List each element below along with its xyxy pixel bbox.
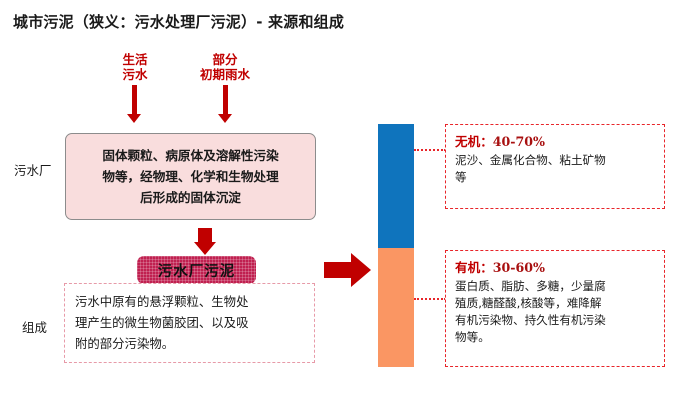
sludge-badge: 污水厂污泥 bbox=[137, 256, 256, 284]
callout-head-inorganic: 无机：40-70% bbox=[455, 131, 656, 150]
source-label-initial-rainwater: 部分 初期雨水 bbox=[183, 52, 267, 82]
bar-segment-inorganic bbox=[378, 124, 414, 248]
source-label-line2: 污水 bbox=[105, 67, 165, 82]
source-label-line2: 初期雨水 bbox=[183, 67, 267, 82]
callout-body-line-1: 蛋白质、脂肪、多糖，少量腐 bbox=[455, 278, 656, 295]
callout-body-line-2: 等 bbox=[455, 169, 656, 186]
callout-head-organic: 有机：30-60% bbox=[455, 257, 656, 276]
slide-canvas: 城市污泥（狭义：污水处理厂污泥）- 来源和组成 生活 污水 部分 初期雨水 污水… bbox=[0, 0, 678, 400]
source-arrow-head-domestic bbox=[127, 114, 141, 123]
process-line-1: 固体颗粒、病原体及溶解性污染 bbox=[102, 145, 278, 166]
composition-stacked-bar bbox=[378, 124, 414, 367]
source-arrow-stem-domestic bbox=[132, 85, 137, 114]
callout-body-line-1: 泥沙、金属化合物、粘土矿物 bbox=[455, 152, 656, 169]
source-label-domestic-sewage: 生活 污水 bbox=[105, 52, 165, 82]
source-arrow-stem-rainwater bbox=[223, 85, 228, 114]
callout-value-inorganic: 40-70% bbox=[493, 134, 545, 149]
row-label-plant: 污水厂 bbox=[14, 160, 52, 179]
connector-inorganic bbox=[414, 149, 446, 151]
callout-body-line-4: 物等。 bbox=[455, 329, 656, 346]
process-line-2: 物等，经物理、化学和生物处理 bbox=[102, 166, 278, 187]
down-arrow-stem bbox=[198, 228, 212, 242]
process-line-3: 后形成的固体沉淀 bbox=[140, 187, 241, 208]
source-label-line1: 部分 bbox=[183, 52, 267, 67]
bar-segment-organic bbox=[378, 248, 414, 367]
composition-description-box: 污水中原有的悬浮颗粒、生物处 理产生的微生物菌胶团、以及吸 附的部分污染物。 bbox=[64, 283, 315, 363]
callout-body-line-2: 殖质,糖醛酸,核酸等，难降解 bbox=[455, 295, 656, 312]
callout-body-organic: 蛋白质、脂肪、多糖，少量腐 殖质,糖醛酸,核酸等，难降解 有机污染物、持久性有机… bbox=[455, 278, 656, 346]
page-title: 城市污泥（狭义：污水处理厂污泥）- 来源和组成 bbox=[13, 11, 344, 32]
composition-line-2: 理产生的微生物菌胶团、以及吸 bbox=[75, 312, 305, 333]
callout-box-inorganic: 无机：40-70% 泥沙、金属化合物、粘土矿物 等 bbox=[445, 124, 665, 209]
right-arrow-icon bbox=[324, 252, 372, 292]
source-label-line1: 生活 bbox=[105, 52, 165, 67]
callout-box-organic: 有机：30-60% 蛋白质、脂肪、多糖，少量腐 殖质,糖醛酸,核酸等，难降解 有… bbox=[445, 250, 665, 367]
process-description-box: 固体颗粒、病原体及溶解性污染 物等，经物理、化学和生物处理 后形成的固体沉淀 bbox=[65, 133, 316, 220]
down-arrow-head bbox=[194, 242, 216, 255]
callout-body-inorganic: 泥沙、金属化合物、粘土矿物 等 bbox=[455, 152, 656, 186]
callout-body-line-3: 有机污染物、持久性有机污染 bbox=[455, 312, 656, 329]
composition-line-1: 污水中原有的悬浮颗粒、生物处 bbox=[75, 291, 305, 312]
connector-organic bbox=[414, 298, 446, 300]
callout-label-organic: 有机： bbox=[455, 260, 493, 275]
callout-value-organic: 30-60% bbox=[493, 260, 545, 275]
composition-line-3: 附的部分污染物。 bbox=[75, 333, 305, 354]
callout-label-inorganic: 无机： bbox=[455, 134, 493, 149]
row-label-composition: 组成 bbox=[22, 317, 47, 336]
source-arrow-head-rainwater bbox=[218, 114, 232, 123]
